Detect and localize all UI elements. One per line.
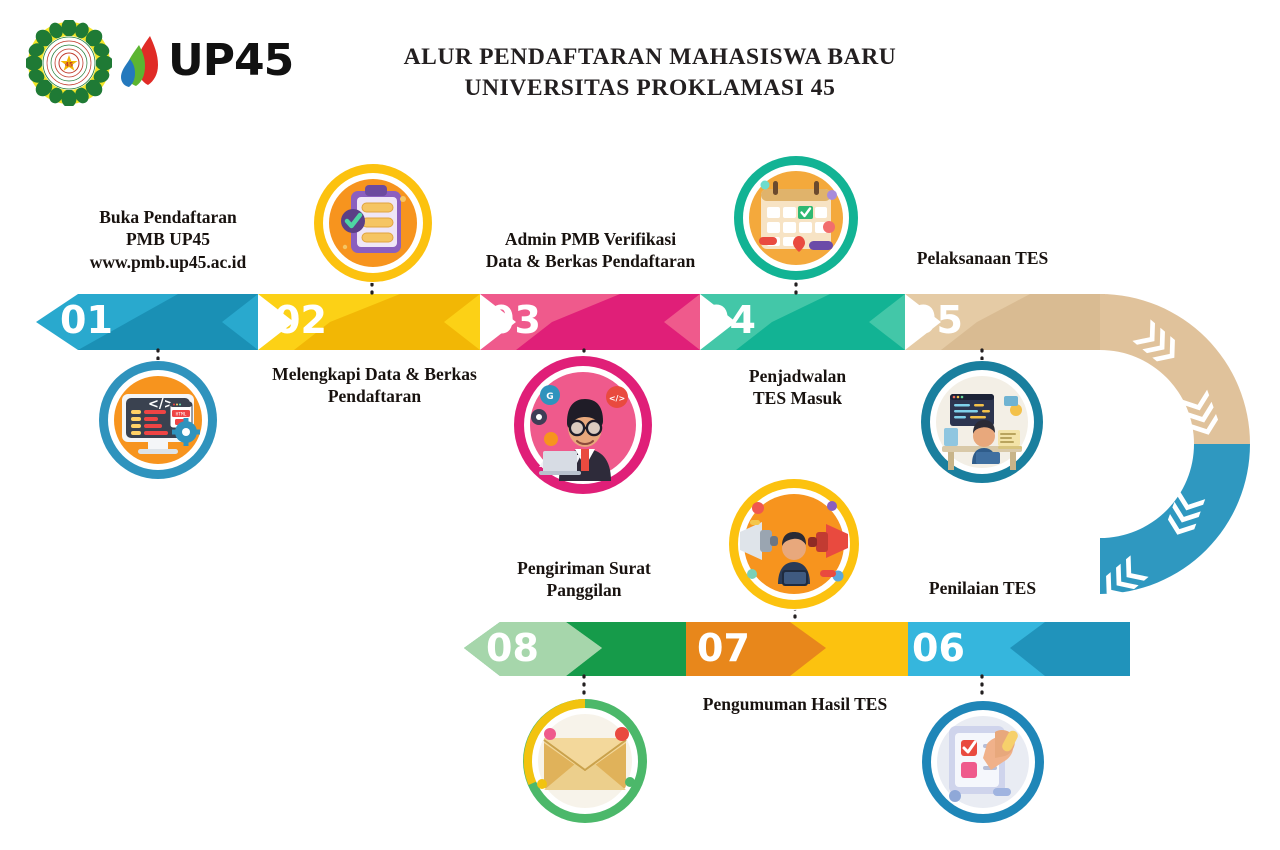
- step-icon-04: [733, 155, 859, 281]
- flow-band-07: [650, 622, 908, 676]
- flow-band-01: [36, 294, 258, 350]
- step-label-07: Pengumuman Hasil TES: [670, 693, 920, 715]
- step-label-03: Admin PMB Verifikasi Data & Berkas Penda…: [448, 228, 733, 273]
- svg-text:G: G: [546, 392, 553, 402]
- mail-envelope-icon: [522, 698, 648, 824]
- step-label-01: Buka Pendaftaran PMB UP45 www.pmb.up45.a…: [28, 206, 308, 273]
- clipboard-checklist-icon: [313, 163, 433, 283]
- step-label-04: Penjadwalan TES Masuk: [700, 365, 895, 410]
- infographic-canvas: 45 UP45 ALUR PENDAFTARAN MAHASISWA BARU …: [0, 0, 1280, 850]
- flow-band-04: [700, 294, 905, 350]
- step-icon-06: [921, 700, 1045, 824]
- flow-band-08: [464, 622, 686, 676]
- website-code-icon: </> HTML: [98, 360, 218, 480]
- svg-text:</>: </>: [609, 394, 625, 403]
- announcement-megaphone-icon: [728, 478, 860, 610]
- online-test-desk-icon: [920, 360, 1044, 484]
- step-icon-08: [522, 698, 648, 824]
- step-icon-07: [728, 478, 860, 610]
- step-label-08: Pengiriman Surat Panggilan: [484, 557, 684, 602]
- admin-verification-person-icon: G </>: [513, 355, 653, 495]
- step-icon-01: </> HTML: [98, 360, 218, 480]
- step-icon-03: G </>: [513, 355, 653, 495]
- step-icon-05: [920, 360, 1044, 484]
- grading-checkmark-icon: [921, 700, 1045, 824]
- flow-band-06: [872, 622, 1130, 676]
- svg-text:HTML: HTML: [176, 412, 187, 418]
- step-label-05: Pelaksanaan TES: [885, 247, 1080, 269]
- flow-band-03: [480, 294, 700, 350]
- flow-band-02: [258, 294, 480, 350]
- calendar-schedule-icon: [733, 155, 859, 281]
- step-icon-02: [313, 163, 433, 283]
- flow-band-05: [905, 294, 1105, 350]
- step-label-06: Penilaian TES: [885, 577, 1080, 599]
- step-label-02: Melengkapi Data & Berkas Pendaftaran: [232, 363, 517, 408]
